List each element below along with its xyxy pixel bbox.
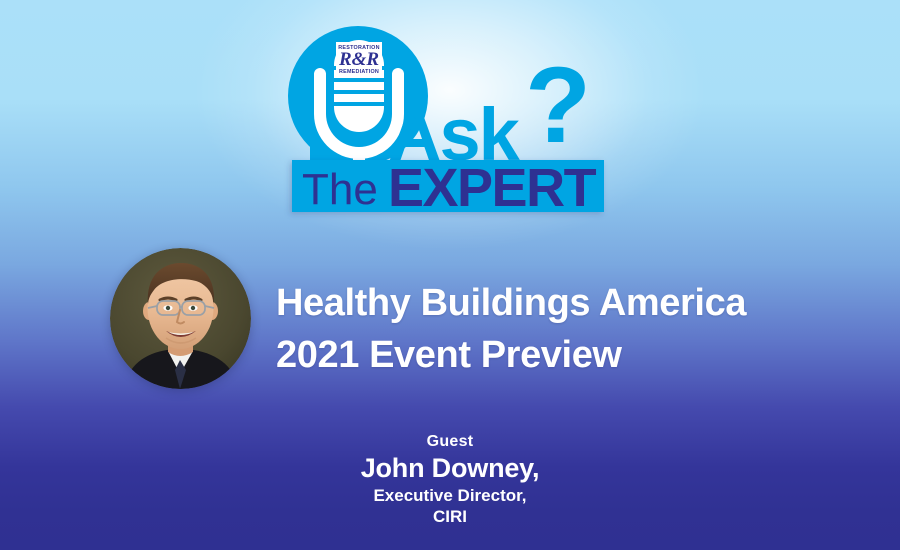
the-text: The <box>302 165 378 214</box>
ask-the-expert-logo: RESTORATION R&R REMEDIATION ? Ask The EX… <box>240 22 640 222</box>
expert-text: EXPERT <box>388 158 597 218</box>
brand-bottom-text: REMEDIATION <box>339 69 379 75</box>
episode-title-line-2: 2021 Event Preview <box>276 329 876 381</box>
guest-credits: Guest John Downey, Executive Director, C… <box>0 432 900 527</box>
rr-brand-logo: RESTORATION R&R REMEDIATION <box>336 42 382 76</box>
episode-title-line-1: Healthy Buildings America <box>276 277 876 329</box>
question-mark-text: ? <box>525 44 591 165</box>
podcast-title-card: RESTORATION R&R REMEDIATION ? Ask The EX… <box>0 0 900 550</box>
guest-role: Executive Director, <box>0 485 900 506</box>
brand-mark-text: R&R <box>338 49 379 70</box>
guest-organization: CIRI <box>0 506 900 527</box>
guest-name: John Downey, <box>0 452 900 485</box>
episode-title: Healthy Buildings America 2021 Event Pre… <box>276 277 876 381</box>
guest-label: Guest <box>0 432 900 452</box>
guest-avatar <box>110 248 251 389</box>
